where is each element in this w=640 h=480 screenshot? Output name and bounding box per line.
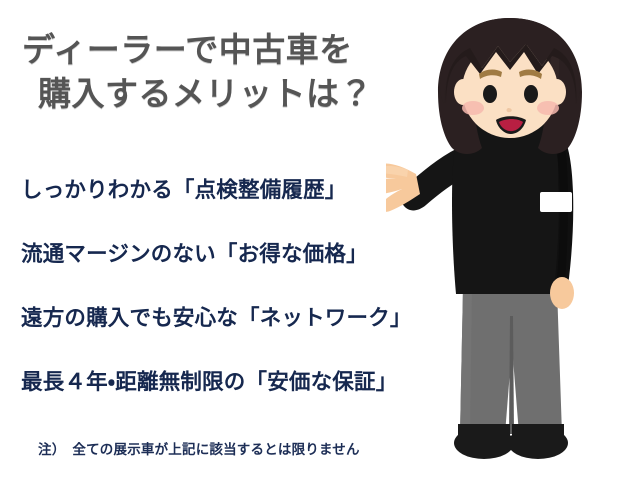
footnote-mark: 注） <box>38 442 65 457</box>
head-shape <box>438 18 582 154</box>
slide-canvas: ディーラーで中古車を 購入するメリットは？ しっかりわかる「点検整備履歴」 流通… <box>0 0 640 480</box>
sales-staff-illustration <box>386 16 636 468</box>
right-hand-shape <box>550 277 574 309</box>
page-title: ディーラーで中古車を 購入するメリットは？ <box>22 28 422 115</box>
footnote: 注）全ての展示車が上記に該当するとは限りません <box>38 438 360 458</box>
footnote-text: 全ての展示車が上記に該当するとは限りません <box>72 442 359 457</box>
page-title-line-1: ディーラーで中古車を <box>22 28 422 72</box>
eye-right <box>524 85 538 103</box>
page-title-line-2: 購入するメリットは？ <box>22 72 422 116</box>
eye-left <box>483 85 497 103</box>
trousers-shape <box>460 288 562 434</box>
name-badge <box>540 192 572 212</box>
